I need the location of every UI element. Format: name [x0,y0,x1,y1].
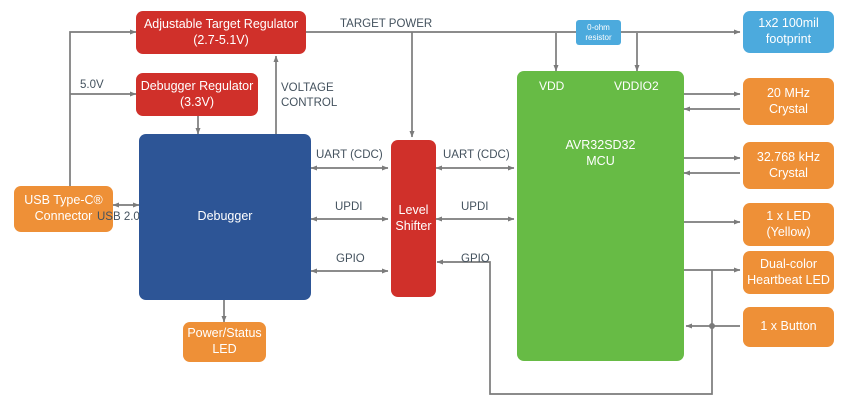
node-label: 1x2 100mil footprint [758,16,818,47]
wire-label-updi-right: UPDI [461,200,488,215]
wire-label-gpio-left: GPIO [336,252,365,267]
node-debugger-regulator[interactable]: Debugger Regulator (3.3V) [136,73,258,116]
node-label: Debugger Regulator (3.3V) [141,79,254,110]
wire-label-usb-20: USB 2.0 [97,210,140,225]
node-button[interactable]: 1 x Button [743,307,834,347]
node-zero-ohm-resistor[interactable]: 0-ohm resistor [576,20,621,45]
wire-label-gpio-right: GPIO [461,252,490,267]
node-label: 32.768 kHz Crystal [757,150,820,181]
node-label: Dual-color Heartbeat LED [747,257,830,288]
node-usb-type-c-connector[interactable]: USB Type-C® Connector [14,186,113,232]
node-level-shifter[interactable]: Level Shifter [391,140,436,297]
node-label: AVR32SD32 MCU [566,138,636,169]
node-label: 1 x Button [760,319,816,335]
pin-label-vdd: VDD [539,79,564,93]
wire-label-uart-cdc-right: UART (CDC) [443,148,510,163]
block-diagram: Adjustable Target Regulator (2.7-5.1V) D… [0,0,850,405]
node-led-yellow[interactable]: 1 x LED (Yellow) [743,203,834,246]
node-power-status-led[interactable]: Power/Status LED [183,322,266,362]
node-footprint-1x2-100mil[interactable]: 1x2 100mil footprint [743,11,834,53]
wire-label-updi-left: UPDI [335,200,362,215]
node-avr32sd32-mcu[interactable]: AVR32SD32 MCU [517,71,684,361]
node-label: 1 x LED (Yellow) [766,209,810,240]
node-label: Debugger [198,209,253,225]
node-label: Power/Status LED [187,326,261,357]
node-label: Adjustable Target Regulator (2.7-5.1V) [144,17,298,48]
wire-label-5v: 5.0V [80,78,104,93]
node-crystal-32768khz[interactable]: 32.768 kHz Crystal [743,142,834,189]
wire-label-uart-cdc-left: UART (CDC) [316,148,383,163]
pin-label-vddio2: VDDIO2 [614,79,659,93]
wire-label-voltage-control: VOLTAGE CONTROL [281,81,337,111]
node-debugger[interactable]: Debugger [139,134,311,300]
node-label: 0-ohm resistor [585,23,611,41]
node-crystal-20mhz[interactable]: 20 MHz Crystal [743,78,834,125]
wire-label-target-power: TARGET POWER [340,17,432,32]
node-label: USB Type-C® Connector [24,193,102,224]
node-label: 20 MHz Crystal [767,86,810,117]
node-heartbeat-led[interactable]: Dual-color Heartbeat LED [743,251,834,294]
junction-dot-gpio-bus [709,323,715,329]
node-label: Level Shifter [395,203,431,234]
node-adjustable-target-regulator[interactable]: Adjustable Target Regulator (2.7-5.1V) [136,11,306,54]
wire-5v-to-adjustable-regulator [70,32,136,186]
